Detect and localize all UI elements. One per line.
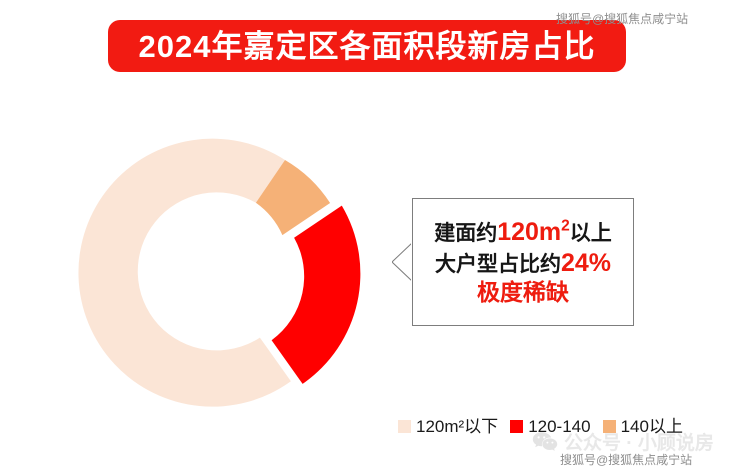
- legend-item-under-120[interactable]: 120m²以下: [398, 418, 498, 435]
- watermark-bottom-right: 搜狐号@搜狐焦点咸宁站: [560, 451, 692, 468]
- callout-line1-prefix: 建面约: [434, 222, 497, 245]
- watermark-top-right: 搜狐号@搜狐焦点咸宁站: [556, 10, 688, 27]
- legend-label: 120m²以下: [416, 418, 498, 435]
- callout-line-3: 极度稀缺: [477, 278, 569, 306]
- callout-line2-prefix: 大户型占比约: [435, 253, 561, 276]
- callout-line1-superscript: 2: [561, 218, 570, 235]
- page-title: 2024年嘉定区各面积段新房占比: [139, 31, 596, 62]
- callout-box: 建面约120m2以上 大户型占比约24% 极度稀缺: [412, 198, 634, 326]
- legend-item-over-140[interactable]: 140以上: [603, 418, 683, 435]
- callout-line-2: 大户型占比约24%: [435, 248, 611, 279]
- donut-chart: [60, 118, 400, 428]
- callout-line-1: 建面约120m2以上: [434, 217, 612, 248]
- chart-legend: 120m²以下 120-140 140以上: [398, 418, 683, 435]
- legend-swatch-icon: [603, 420, 616, 433]
- legend-item-120-140[interactable]: 120-140: [510, 418, 590, 435]
- callout-line1-value: 120m: [497, 218, 561, 246]
- legend-swatch-icon: [398, 420, 411, 433]
- chart-title-banner: 2024年嘉定区各面积段新房占比: [108, 20, 626, 72]
- legend-label: 120-140: [528, 418, 590, 435]
- donut-slice-under-120: [78, 139, 290, 407]
- legend-swatch-icon: [510, 420, 523, 433]
- legend-label: 140以上: [621, 418, 683, 435]
- callout-line2-value: 24%: [561, 249, 611, 277]
- callout-line1-suffix: 以上: [570, 222, 612, 245]
- callout-pointer: [392, 242, 413, 282]
